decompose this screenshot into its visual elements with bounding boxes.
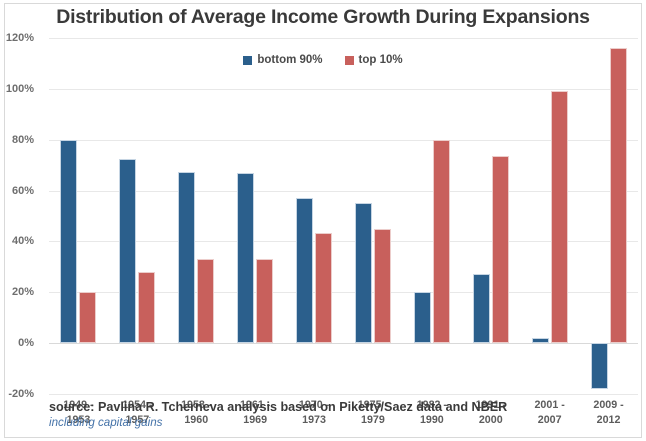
bar-group: [520, 38, 579, 394]
y-axis-tick-label: 20%: [0, 286, 34, 298]
legend-item-top-10: top 10%: [345, 54, 403, 66]
plot-area: 120%100%80%60%40%20%0%-20% 1949 -1953195…: [49, 38, 638, 394]
bar-top-10: [138, 272, 155, 343]
bar-top-10: [79, 292, 96, 343]
legend-item-bottom-90: bottom 90%: [243, 54, 322, 66]
chart-legend: bottom 90% top 10%: [0, 54, 646, 66]
bar-bottom-90: [119, 159, 136, 343]
gridline: [49, 394, 638, 395]
bar-bottom-90: [473, 274, 490, 343]
bar-bottom-90: [355, 203, 372, 343]
bar-top-10: [315, 233, 332, 344]
y-axis-tick-label: 0%: [0, 337, 34, 349]
bar-group: [49, 38, 108, 394]
bar-top-10: [492, 156, 509, 343]
bar-top-10: [551, 91, 568, 343]
bar-group: [226, 38, 285, 394]
bar-group: [344, 38, 403, 394]
bar-top-10: [197, 259, 214, 343]
bar-group: [285, 38, 344, 394]
bar-group: [402, 38, 461, 394]
bar-bottom-90: [178, 172, 195, 344]
bar-group: [461, 38, 520, 394]
bar-bottom-90: [296, 198, 313, 343]
chart-title: Distribution of Average Income Growth Du…: [0, 6, 646, 29]
bars-layer: [49, 38, 638, 394]
bar-group: [579, 38, 638, 394]
bar-group: [167, 38, 226, 394]
y-axis-tick-label: -20%: [0, 388, 34, 400]
bar-bottom-90: [237, 173, 254, 343]
bar-top-10: [433, 140, 450, 343]
source-text: source: Pavlina R. Tcherneva analysis ba…: [49, 400, 609, 414]
y-axis-tick-label: 120%: [0, 32, 34, 44]
y-axis-tick-label: 100%: [0, 83, 34, 95]
note-text: including capital gains: [49, 416, 609, 429]
bar-top-10: [374, 229, 391, 343]
bar-group: [108, 38, 167, 394]
legend-swatch-top-10: [345, 56, 354, 65]
y-axis-tick-label: 80%: [0, 134, 34, 146]
bar-top-10: [610, 48, 627, 343]
bar-bottom-90: [591, 343, 608, 389]
legend-swatch-bottom-90: [243, 56, 252, 65]
chart-page: Distribution of Average Income Growth Du…: [0, 0, 646, 441]
bar-bottom-90: [60, 140, 77, 343]
chart-footer: source: Pavlina R. Tcherneva analysis ba…: [49, 400, 609, 429]
y-axis-tick-label: 60%: [0, 185, 34, 197]
y-axis-tick-label: 40%: [0, 235, 34, 247]
legend-label-top-10: top 10%: [359, 54, 403, 66]
bar-bottom-90: [414, 292, 431, 343]
bar-top-10: [256, 259, 273, 343]
legend-label-bottom-90: bottom 90%: [257, 54, 322, 66]
bar-bottom-90: [532, 338, 549, 343]
